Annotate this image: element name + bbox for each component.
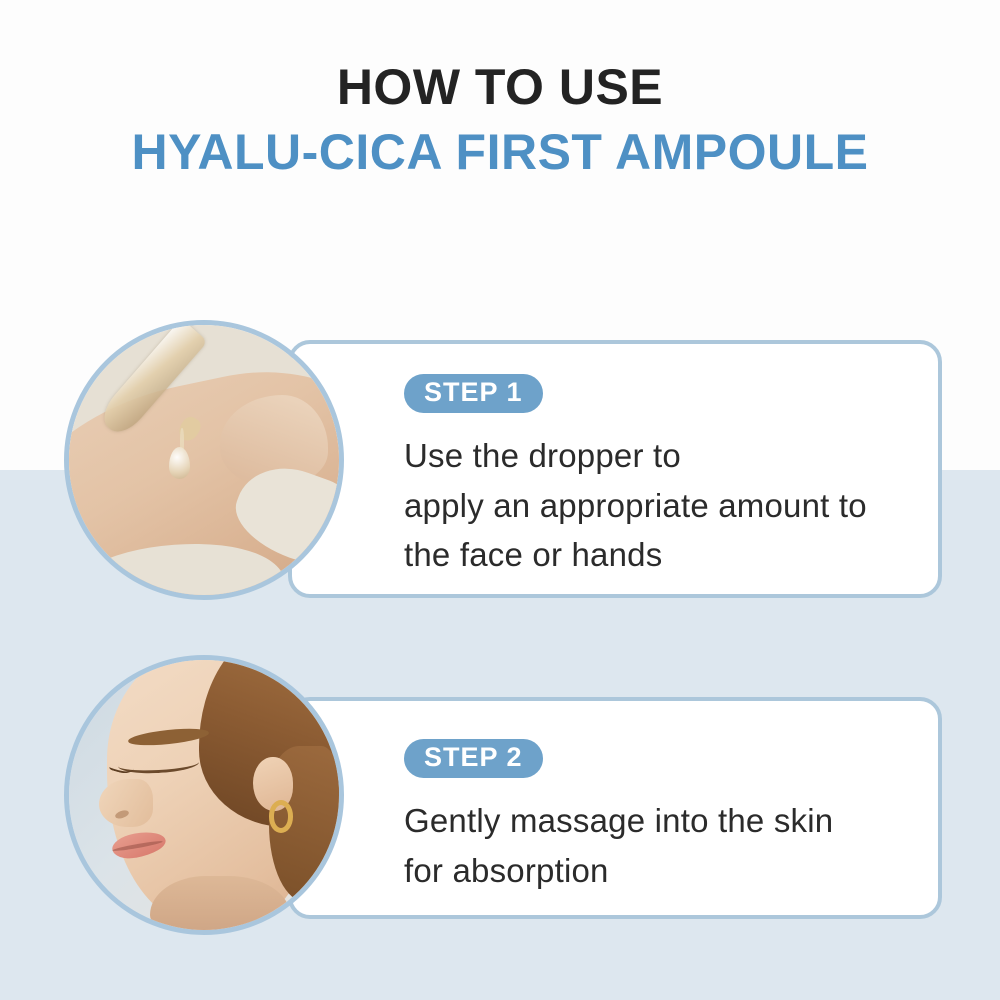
step-1-instruction-text: Use the dropper to apply an appropriate … xyxy=(404,413,914,580)
status-badge-step-2: STEP 2 xyxy=(404,739,543,778)
chin-shadow-shape xyxy=(150,876,290,935)
face-illustration xyxy=(69,660,339,930)
hand-dropper-illustration xyxy=(69,325,339,595)
nose-shape xyxy=(99,779,153,828)
page-title-secondary: HYALU-CICA FIRST AMPOULE xyxy=(0,113,1000,178)
earring-icon xyxy=(269,800,293,832)
step-card-1-body: STEP 1 Use the dropper to apply an appro… xyxy=(404,374,914,580)
how-to-use-infographic: HOW TO USE HYALU-CICA FIRST AMPOULE STEP… xyxy=(0,0,1000,1000)
page-title-primary: HOW TO USE xyxy=(0,0,1000,113)
status-badge-step-1: STEP 1 xyxy=(404,374,543,413)
step-card-1: STEP 1 Use the dropper to apply an appro… xyxy=(288,340,942,598)
step-2-photo xyxy=(64,655,344,935)
step-1-photo xyxy=(64,320,344,600)
page-title-block: HOW TO USE HYALU-CICA FIRST AMPOULE xyxy=(0,0,1000,178)
step-card-2-body: STEP 2 Gently massage into the skin for … xyxy=(404,739,914,895)
step-card-2: STEP 2 Gently massage into the skin for … xyxy=(288,697,942,919)
step-2-instruction-text: Gently massage into the skin for absorpt… xyxy=(404,778,914,895)
